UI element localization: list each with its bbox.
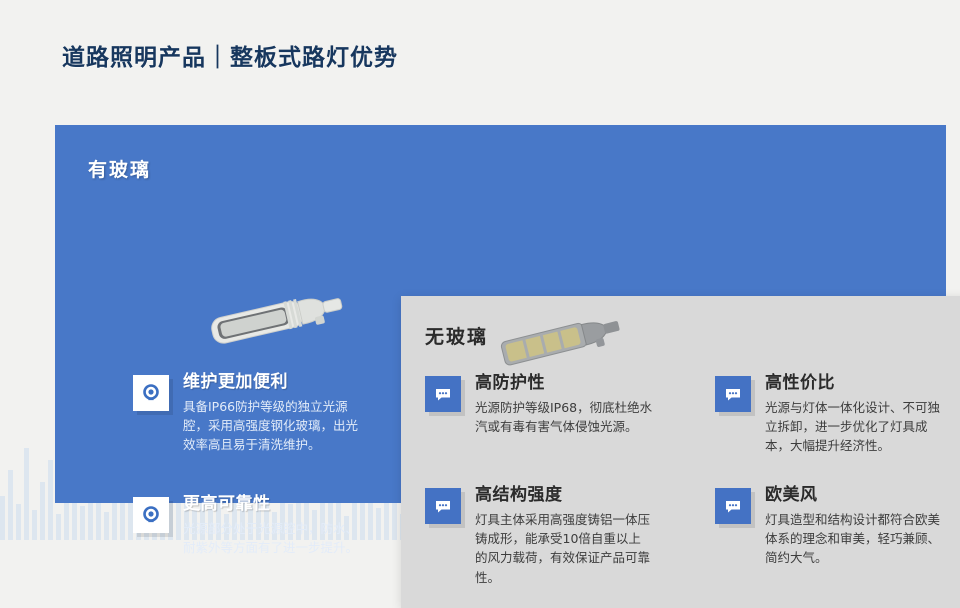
feature-title: 高性价比 <box>765 374 943 393</box>
feature-text: 具备IP66防护等级的独立光源腔，采用高强度钢化玻璃，出光效率高且易于清洗维护。 <box>183 397 363 455</box>
deco-bar <box>0 496 5 540</box>
deco-bar <box>376 508 381 540</box>
chat-bubble-icon <box>425 376 461 412</box>
deco-bar <box>80 506 85 540</box>
feature-title: 高结构强度 <box>475 486 653 505</box>
feature-item[interactable]: 高性价比 光源与灯体一体化设计、不可独立拆卸，进一步优化了灯具成本，大幅提升经济… <box>715 374 943 456</box>
chat-bubble-icon <box>425 488 461 524</box>
deco-bar <box>40 482 45 540</box>
feature-title: 更高可靠性 <box>183 495 363 514</box>
deco-bar <box>32 510 37 540</box>
deco-bar <box>120 500 125 540</box>
chat-bubble-icon <box>715 376 751 412</box>
feature-item[interactable]: 维护更加便利 具备IP66防护等级的独立光源腔，采用高强度钢化玻璃，出光效率高且… <box>133 373 363 455</box>
deco-bar <box>24 448 29 540</box>
feature-text: 光源防护等级IP68，彻底杜绝水汽或有毒有害气体侵蚀光源。 <box>475 398 653 437</box>
feature-item[interactable]: 高结构强度 灯具主体采用高强度铸铝一体压铸成形，能承受10倍自重以上的风力载荷，… <box>425 486 653 587</box>
feature-text: 灯具主体采用高强度铸铝一体压铸成形，能承受10倍自重以上的风力载荷，有效保证产品… <box>475 510 653 588</box>
right-section-heading: 无玻璃 <box>425 322 488 349</box>
streetlight-without-glass-image <box>496 304 626 380</box>
feature-text: 光源部分处于光源腔中，防水、耐紫外等方面有了进一步提升。 <box>183 519 363 558</box>
location-pin-icon <box>133 497 169 533</box>
feature-item[interactable]: 更高可靠性 光源部分处于光源腔中，防水、耐紫外等方面有了进一步提升。 <box>133 495 363 557</box>
feature-title: 欧美风 <box>765 486 943 505</box>
feature-text: 光源与灯体一体化设计、不可独立拆卸，进一步优化了灯具成本，大幅提升经济性。 <box>765 398 943 456</box>
deco-bar <box>48 460 53 540</box>
feature-title: 维护更加便利 <box>183 373 363 392</box>
deco-bar <box>16 504 21 540</box>
right-panel-without-glass: 无玻璃 <box>401 296 960 608</box>
location-pin-icon <box>133 375 169 411</box>
main-blue-panel: 有玻璃 <box>55 125 946 503</box>
page-title: 道路照明产品｜整板式路灯优势 <box>62 38 398 72</box>
feature-item[interactable]: 欧美风 灯具造型和结构设计都符合欧美体系的理念和审美，轻巧兼顾、简约大气。 <box>715 486 943 568</box>
feature-text: 灯具造型和结构设计都符合欧美体系的理念和审美，轻巧兼顾、简约大气。 <box>765 510 943 568</box>
feature-item[interactable]: 高防护性 光源防护等级IP68，彻底杜绝水汽或有毒有害气体侵蚀光源。 <box>425 374 653 436</box>
streetlight-with-glass-image <box>201 277 351 362</box>
left-section-heading: 有玻璃 <box>88 155 151 182</box>
deco-bar <box>56 514 61 540</box>
deco-bar <box>104 512 109 540</box>
deco-bar <box>8 470 13 540</box>
chat-bubble-icon <box>715 488 751 524</box>
